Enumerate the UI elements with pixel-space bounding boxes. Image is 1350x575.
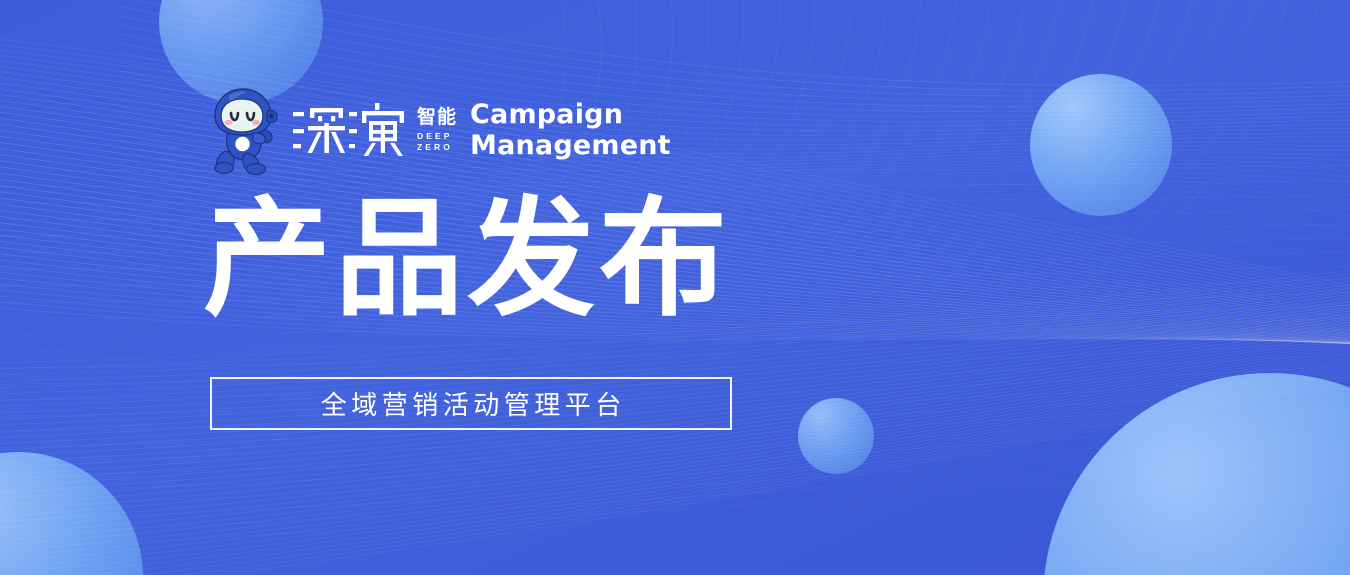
robot-mascot-icon [207,85,281,175]
brand-wordmark-shenyan [291,99,413,161]
brand-logo-block: 智能 DEEP ZERO Campaign Management [207,84,671,176]
product-launch-banner: 智能 DEEP ZERO Campaign Management 产品发布 全域… [0,0,1350,575]
brand-subwordmark: 智能 DEEP ZERO [417,106,457,153]
subtitle-box: 全域营销活动管理平台 [210,377,732,430]
brand-zero-label: ZERO [417,142,457,153]
product-name-line-2: Management [470,130,671,161]
headline-title: 产品发布 [203,196,731,324]
product-name-block: Campaign Management [470,99,671,162]
subtitle-text: 全域营销活动管理平台 [316,385,626,422]
brand-zhineng-label: 智能 [417,108,457,128]
brand-deep-label: DEEP [417,131,457,142]
product-name-line-1: Campaign [470,99,671,130]
brand-deepzero-block: DEEP ZERO [417,131,457,153]
